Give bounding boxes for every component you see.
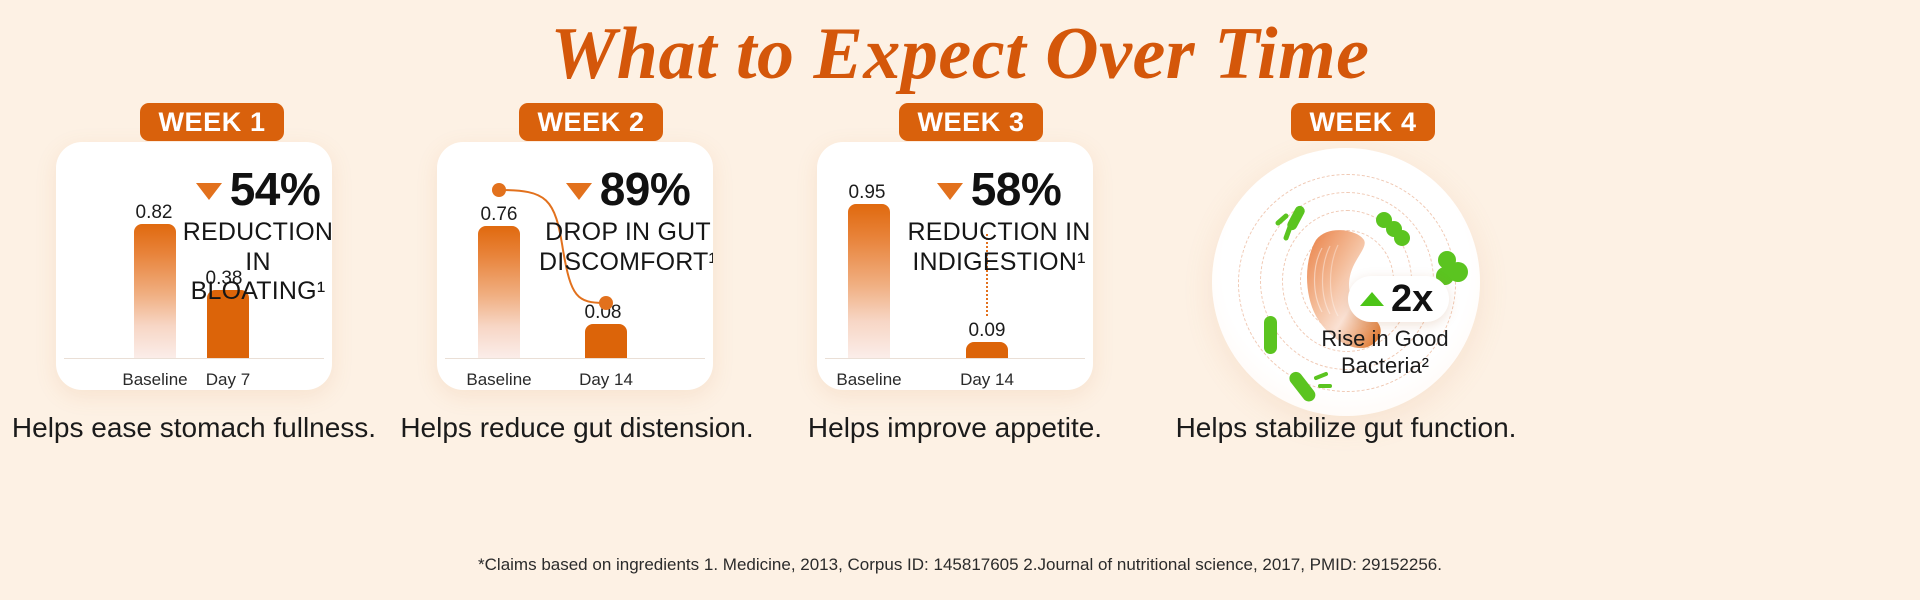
card-week-3: 0.95 0.09 Baseline Day 14 58% REDUCTION … (817, 142, 1093, 390)
axis-label-baseline-3: Baseline (828, 370, 910, 390)
footnote: *Claims based on ingredients 1. Medicine… (0, 555, 1920, 575)
axis-label-day-3: Day 14 (946, 370, 1028, 390)
stat-block-3: 58% REDUCTION IN INDIGESTION¹ (905, 166, 1093, 277)
bacteria-icon (1264, 316, 1277, 354)
caption-week-4: Helps stabilize gut function. (1152, 412, 1540, 444)
chart-axis-2 (445, 358, 705, 359)
caption-week-2: Helps reduce gut distension. (383, 412, 771, 444)
stat-percent-1: 54% (230, 166, 321, 212)
week-badge-3: WEEK 3 (899, 103, 1043, 141)
infographic-root: What to Expect Over Time WEEK 1 0.82 0.3… (0, 0, 1920, 600)
stat-label-2: DROP IN GUT DISCOMFORT¹ (535, 218, 713, 277)
triangle-down-icon (196, 183, 222, 200)
stat-headline-2: 89% (535, 166, 713, 212)
week-badge-1: WEEK 1 (140, 103, 284, 141)
stat-label-line2-3: INDIGESTION¹ (905, 248, 1093, 278)
multiplier-value: 2x (1391, 280, 1433, 318)
bacteria-icon (1278, 204, 1307, 238)
multiplier-subtitle: Rise in Good Bacteria² (1290, 326, 1480, 380)
caption-week-3: Helps improve appetite. (761, 412, 1149, 444)
axis-label-day-2: Day 14 (565, 370, 647, 390)
stat-label-line1-3: REDUCTION IN (905, 218, 1093, 248)
week-badge-2: WEEK 2 (519, 103, 663, 141)
week-badge-4: WEEK 4 (1291, 103, 1435, 141)
stat-headline-1: 54% (168, 166, 332, 212)
bar-baseline-3 (848, 204, 890, 358)
card-week-2: 0.76 0.08 Baseline Day 14 89% DROP IN GU… (437, 142, 713, 390)
caption-week-1: Helps ease stomach fullness. (0, 412, 388, 444)
axis-label-baseline-1: Baseline (114, 370, 196, 390)
week-4-graphic: 2x Rise in Good Bacteria² (1212, 148, 1480, 416)
bar-value-day-3: 0.09 (951, 320, 1023, 342)
stat-label-line2-2: DISCOMFORT¹ (535, 248, 713, 278)
chart-axis-1 (64, 358, 324, 359)
bacteria-icon (1436, 251, 1468, 285)
stat-label-1: REDUCTION IN BLOATING¹ (168, 218, 332, 307)
stat-headline-3: 58% (905, 166, 1093, 212)
multiplier-badge: 2x (1348, 276, 1449, 322)
bar-day-3 (966, 342, 1008, 358)
card-week-1: 0.82 0.38 Baseline Day 7 54% REDUCTION I… (56, 142, 332, 390)
stat-percent-3: 58% (971, 166, 1062, 212)
triangle-down-icon (937, 183, 963, 200)
stat-label-line2-1: BLOATING¹ (168, 277, 332, 307)
multiplier-subtitle-line1: Rise in Good (1290, 326, 1480, 353)
stat-label-3: REDUCTION IN INDIGESTION¹ (905, 218, 1093, 277)
stat-label-line1-1: REDUCTION IN (168, 218, 332, 277)
chart-axis-3 (825, 358, 1085, 359)
bar-value-baseline-3: 0.95 (831, 182, 903, 204)
stat-block-2: 89% DROP IN GUT DISCOMFORT¹ (535, 166, 713, 277)
stat-label-line1-2: DROP IN GUT (535, 218, 713, 248)
triangle-down-icon (566, 183, 592, 200)
multiplier-subtitle-line2: Bacteria² (1290, 353, 1480, 380)
axis-label-day-1: Day 7 (187, 370, 269, 390)
bacteria-icon (1376, 212, 1410, 246)
stat-percent-2: 89% (600, 166, 691, 212)
triangle-up-icon (1360, 292, 1384, 306)
page-title: What to Expect Over Time (0, 16, 1920, 94)
stat-block-1: 54% REDUCTION IN BLOATING¹ (168, 166, 332, 307)
axis-label-baseline-2: Baseline (458, 370, 540, 390)
